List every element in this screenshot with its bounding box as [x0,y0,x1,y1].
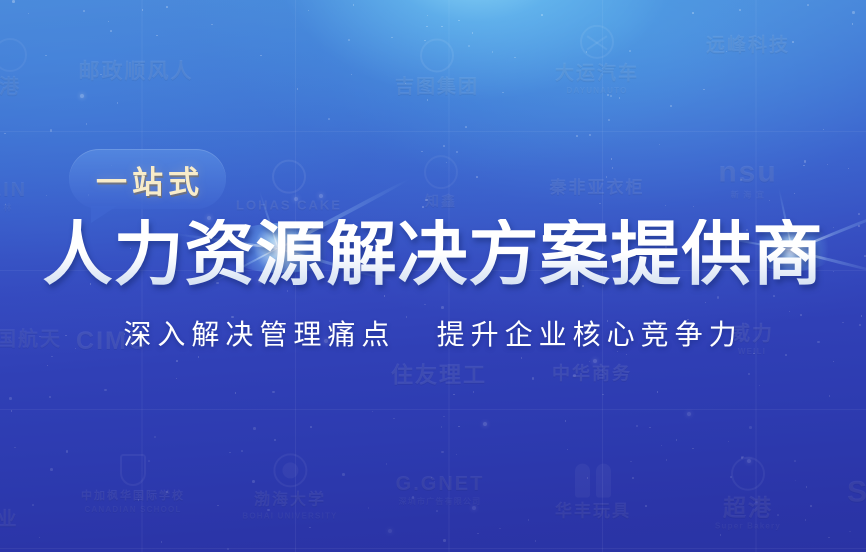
page-subtitle: 深入解决管理痛点 提升企业核心竞争力 [0,313,866,353]
banner-content: 一站式 人力资源解决方案提供商 深入解决管理痛点 提升企业核心竞争力 [0,0,866,552]
tagline-badge: 一站式 [69,149,226,209]
hero-banner: 邮政顺风人港吉图集团大运汽车DAYUNAUTO远峰科技LOHAS CAKE知鑫秦… [0,0,866,552]
tagline-badge-label: 一站式 [91,157,204,202]
page-title: 人力资源解决方案提供商 [0,219,866,289]
